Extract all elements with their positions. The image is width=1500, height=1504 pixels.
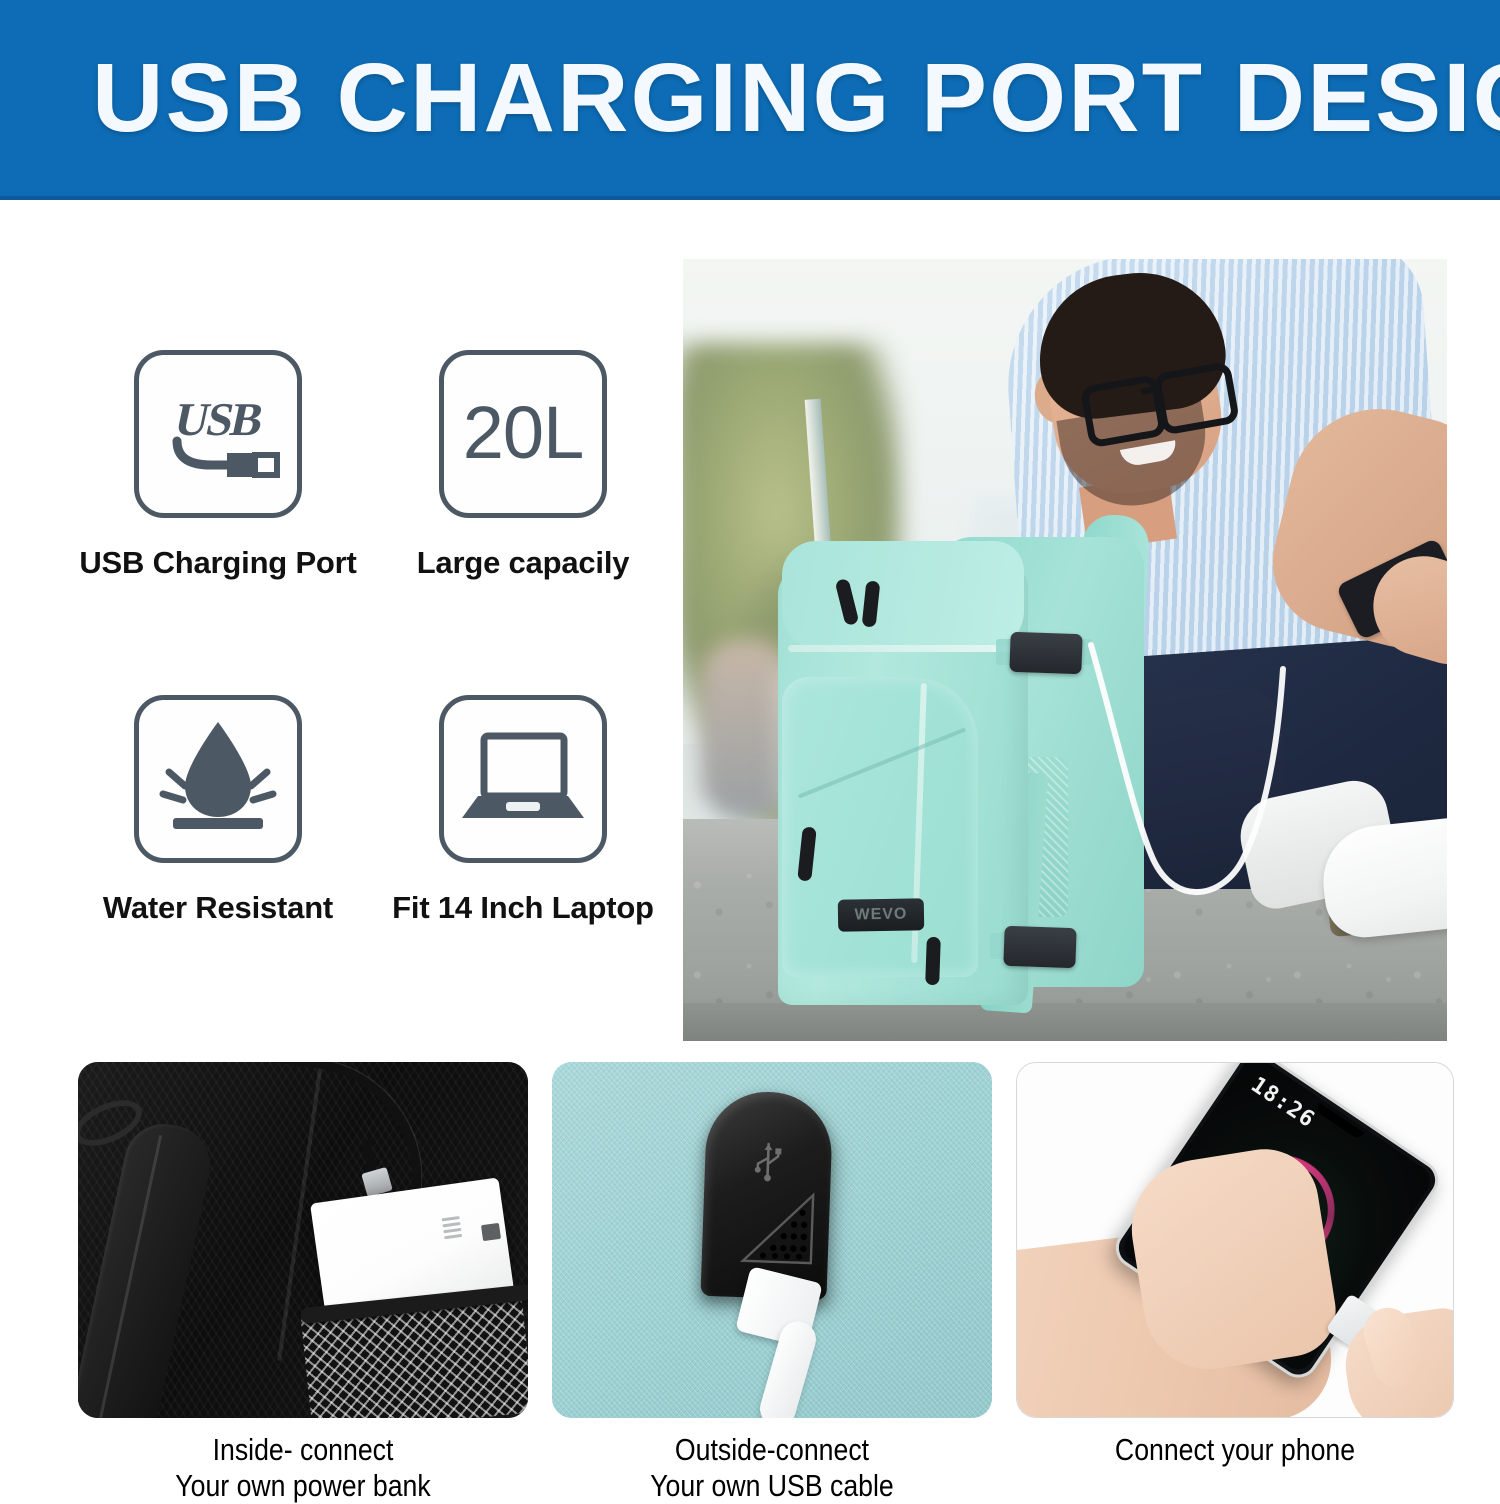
inside-connect-photo: [78, 1062, 528, 1418]
feature-label: Fit 14 Inch Laptop: [383, 889, 663, 927]
phone-clock: 18:26: [1246, 1072, 1319, 1133]
outside-connect-photo: [552, 1062, 992, 1418]
caption-line-1: Outside-connect: [675, 1432, 869, 1467]
caption-connect-phone: Connect your phone: [1047, 1432, 1424, 1468]
feature-label: Large capacily: [383, 544, 663, 582]
brand-label: WEVO: [838, 898, 925, 931]
connect-phone-photo: 18:26 50% Fast charging: [1016, 1062, 1454, 1418]
feature-water-resistant: Water Resistant: [78, 695, 358, 927]
usb-trident-icon: [747, 1139, 789, 1184]
ventilation-dot-triangle: [735, 1189, 824, 1268]
page-title: USB CHARGING PORT DESIGN: [92, 46, 1479, 150]
backpack-top-zipper: [788, 645, 1020, 652]
feature-list: USB USB Charging Port 20L Large capacily: [78, 350, 668, 970]
caption-line-2: Your own USB cable: [583, 1468, 961, 1504]
caption-line-1: Connect your phone: [1115, 1432, 1355, 1467]
caption-line-1: Inside- connect: [213, 1432, 394, 1467]
feature-large-capacity: 20L Large capacily: [383, 350, 663, 582]
brand-label-text: WEVO: [854, 906, 907, 925]
feature-usb-charging-port: USB USB Charging Port: [78, 350, 358, 582]
caption-inside-connect: Inside- connect Your own power bank: [110, 1432, 497, 1504]
backpack-top-compartment: [782, 541, 1024, 651]
water-drop-icon: [134, 695, 302, 863]
backpack-buckle-bottom: [1003, 926, 1076, 968]
infographic-page: USB CHARGING PORT DESIGN USB USB Chargin…: [0, 0, 1500, 1500]
capacity-icon-text: 20L: [463, 390, 583, 475]
feature-fit-laptop: Fit 14 Inch Laptop: [383, 695, 663, 927]
caption-outside-connect: Outside-connect Your own USB cable: [583, 1432, 961, 1504]
capacity-icon: 20L: [439, 350, 607, 518]
feature-label: Water Resistant: [78, 889, 358, 927]
caption-line-2: Your own power bank: [110, 1468, 497, 1504]
feature-label: USB Charging Port: [78, 544, 358, 582]
backpack-buckle-top: [1009, 632, 1082, 674]
detail-photo-row: 18:26 50% Fast charging: [0, 1062, 1500, 1422]
usb-cable-icon: USB: [134, 350, 302, 518]
hero-lifestyle-photo: WEVO: [683, 259, 1447, 1041]
power-bank-port: [481, 1223, 501, 1241]
header-banner: USB CHARGING PORT DESIGN: [0, 0, 1500, 200]
laptop-icon: [439, 695, 607, 863]
zipper-pull: [925, 937, 941, 985]
caption-row: Inside- connect Your own power bank Outs…: [0, 1432, 1500, 1500]
power-bank-leds: [442, 1216, 465, 1241]
backpack: WEVO: [778, 527, 1146, 1037]
